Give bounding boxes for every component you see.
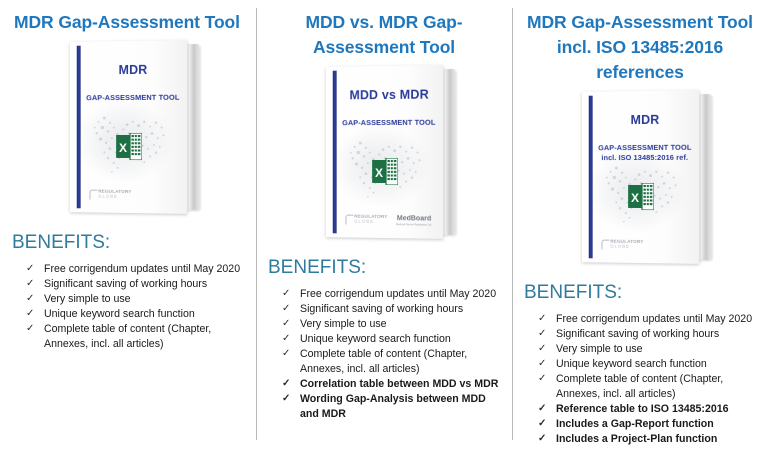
benefit-item: ✓Complete table of content (Chapter, Ann… — [282, 347, 506, 376]
benefit-item: ✓Free corrigendum updates until May 2020 — [26, 262, 250, 277]
product-comparison-page: MDR Gap-Assessment Tool — [0, 0, 770, 449]
check-icon: ✓ — [282, 332, 290, 347]
check-icon: ✓ — [26, 292, 34, 307]
benefit-text: Very simple to use — [300, 318, 387, 330]
book-title: MDD vs MDR — [342, 87, 438, 102]
book-subtitle: GAP-ASSESSMENT TOOL incl. ISO 13485:2016… — [596, 143, 695, 163]
book-page-block — [185, 44, 199, 210]
benefit-text: Significant saving of working hours — [556, 328, 719, 340]
svg-text:X: X — [119, 141, 127, 155]
book-title: MDR — [598, 112, 694, 127]
product-title: MDR Gap-Assessment Tool — [0, 0, 256, 35]
check-icon: ✓ — [282, 317, 290, 332]
benefit-text: Significant saving of working hours — [44, 278, 207, 290]
benefit-item: ✓Unique keyword search function — [282, 332, 506, 347]
benefit-item: ✓Very simple to use — [282, 317, 506, 332]
product-column-mdr: MDR Gap-Assessment Tool — [0, 0, 256, 449]
benefit-text: Unique keyword search function — [556, 358, 707, 370]
benefit-text: Complete table of content (Chapter, Anne… — [300, 348, 467, 375]
check-icon: ✓ — [538, 372, 546, 387]
check-icon: ✓ — [26, 277, 34, 292]
benefit-item: ✓Correlation table between MDD vs MDR — [282, 377, 506, 392]
publisher-logo: REGULATORY GLOBE — [601, 239, 645, 252]
product-column-mdr-iso: MDR Gap-Assessment Tool incl. ISO 13485:… — [512, 0, 768, 449]
book-image-mdr-iso: MDR GAP-ASSESSMENT TOOL incl. ISO 13485:… — [512, 85, 768, 276]
benefits-heading: BENEFITS: — [256, 251, 512, 283]
book-subtitle: GAP-ASSESSMENT TOOL — [340, 118, 439, 129]
check-icon: ✓ — [538, 432, 546, 447]
book-spine — [77, 46, 81, 209]
book-image-mdr: MDR GAP-ASSESSMENT TOOL — [0, 35, 256, 226]
benefits-heading: BENEFITS: — [0, 226, 256, 258]
benefits-list: ✓Free corrigendum updates until May 2020… — [512, 308, 768, 447]
check-icon: ✓ — [538, 342, 546, 357]
excel-icon: X — [372, 158, 398, 185]
book-title: MDR — [86, 62, 182, 77]
benefit-item: ✓Free corrigendum updates until May 2020 — [282, 287, 506, 302]
check-icon: ✓ — [538, 402, 546, 417]
product-title: MDD vs. MDR Gap-Assessment Tool — [256, 0, 512, 60]
check-icon: ✓ — [26, 262, 34, 277]
book-page-block — [441, 69, 455, 235]
benefit-text: Complete table of content (Chapter, Anne… — [556, 373, 723, 400]
medboard-logo: MedBoard Medical Device Regulatory Ltd. — [394, 215, 434, 230]
benefit-item: ✓Unique keyword search function — [538, 357, 762, 372]
check-icon: ✓ — [26, 322, 34, 337]
benefit-item: ✓Significant saving of working hours — [282, 302, 506, 317]
product-title: MDR Gap-Assessment Tool incl. ISO 13485:… — [512, 0, 768, 85]
check-icon: ✓ — [282, 347, 290, 362]
benefit-item: ✓Wording Gap-Analysis between MDD and MD… — [282, 392, 506, 421]
book-cover: MDR GAP-ASSESSMENT TOOL — [70, 40, 187, 214]
benefits-heading: BENEFITS: — [512, 276, 768, 308]
benefit-item: ✓Free corrigendum updates until May 2020 — [538, 312, 762, 327]
check-icon: ✓ — [282, 287, 290, 302]
benefit-text: Reference table to ISO 13485:2016 — [556, 403, 729, 415]
benefit-text: Unique keyword search function — [44, 308, 195, 320]
book-spine — [589, 96, 593, 259]
benefits-list: ✓Free corrigendum updates until May 2020… — [0, 258, 256, 352]
svg-text:X: X — [631, 191, 639, 205]
book-cover: MDR GAP-ASSESSMENT TOOL incl. ISO 13485:… — [582, 90, 699, 264]
benefit-item: ✓Complete table of content (Chapter, Ann… — [538, 372, 762, 401]
check-icon: ✓ — [538, 312, 546, 327]
book-image-mdd-vs-mdr: MDD vs MDR GAP-ASSESSMENT TOOL — [256, 60, 512, 251]
publisher-logo: REGULATORY GLOBE — [89, 189, 133, 202]
benefit-item: ✓Significant saving of working hours — [26, 277, 250, 292]
benefit-item: ✓Includes a Project-Plan function — [538, 432, 762, 447]
check-icon: ✓ — [282, 392, 290, 407]
benefit-item: ✓Reference table to ISO 13485:2016 — [538, 402, 762, 417]
svg-text:X: X — [375, 166, 383, 180]
check-icon: ✓ — [26, 307, 34, 322]
benefit-text: Very simple to use — [44, 293, 131, 305]
benefit-item: ✓Complete table of content (Chapter, Ann… — [26, 322, 250, 351]
benefit-text: Wording Gap-Analysis between MDD and MDR — [300, 393, 486, 420]
benefit-text: Free corrigendum updates until May 2020 — [300, 288, 496, 300]
benefit-text: Correlation table between MDD vs MDR — [300, 378, 498, 390]
benefit-item: ✓Unique keyword search function — [26, 307, 250, 322]
benefits-list: ✓Free corrigendum updates until May 2020… — [256, 283, 512, 421]
benefit-item: ✓Includes a Gap-Report function — [538, 417, 762, 432]
benefit-text: Free corrigendum updates until May 2020 — [556, 313, 752, 325]
benefit-text: Includes a Project-Plan function — [556, 433, 717, 445]
book-cover: MDD vs MDR GAP-ASSESSMENT TOOL — [326, 65, 443, 239]
benefit-item: ✓Very simple to use — [26, 292, 250, 307]
benefit-text: Complete table of content (Chapter, Anne… — [44, 323, 211, 350]
benefit-item: ✓Very simple to use — [538, 342, 762, 357]
excel-icon: X — [116, 133, 142, 160]
benefit-text: Very simple to use — [556, 343, 643, 355]
benefit-text: Includes a Gap-Report function — [556, 418, 714, 430]
check-icon: ✓ — [538, 327, 546, 342]
book-spine — [333, 71, 337, 234]
publisher-logo: REGULATORY GLOBE — [345, 214, 389, 227]
check-icon: ✓ — [282, 377, 290, 392]
benefit-text: Unique keyword search function — [300, 333, 451, 345]
check-icon: ✓ — [538, 357, 546, 372]
benefit-item: ✓Significant saving of working hours — [538, 327, 762, 342]
book-page-block — [697, 94, 711, 260]
check-icon: ✓ — [282, 302, 290, 317]
book-subtitle: GAP-ASSESSMENT TOOL — [84, 93, 183, 104]
check-icon: ✓ — [538, 417, 546, 432]
excel-icon: X — [628, 183, 654, 210]
benefit-text: Free corrigendum updates until May 2020 — [44, 263, 240, 275]
benefit-text: Significant saving of working hours — [300, 303, 463, 315]
product-column-mdd-vs-mdr: MDD vs. MDR Gap-Assessment Tool — [256, 0, 512, 449]
